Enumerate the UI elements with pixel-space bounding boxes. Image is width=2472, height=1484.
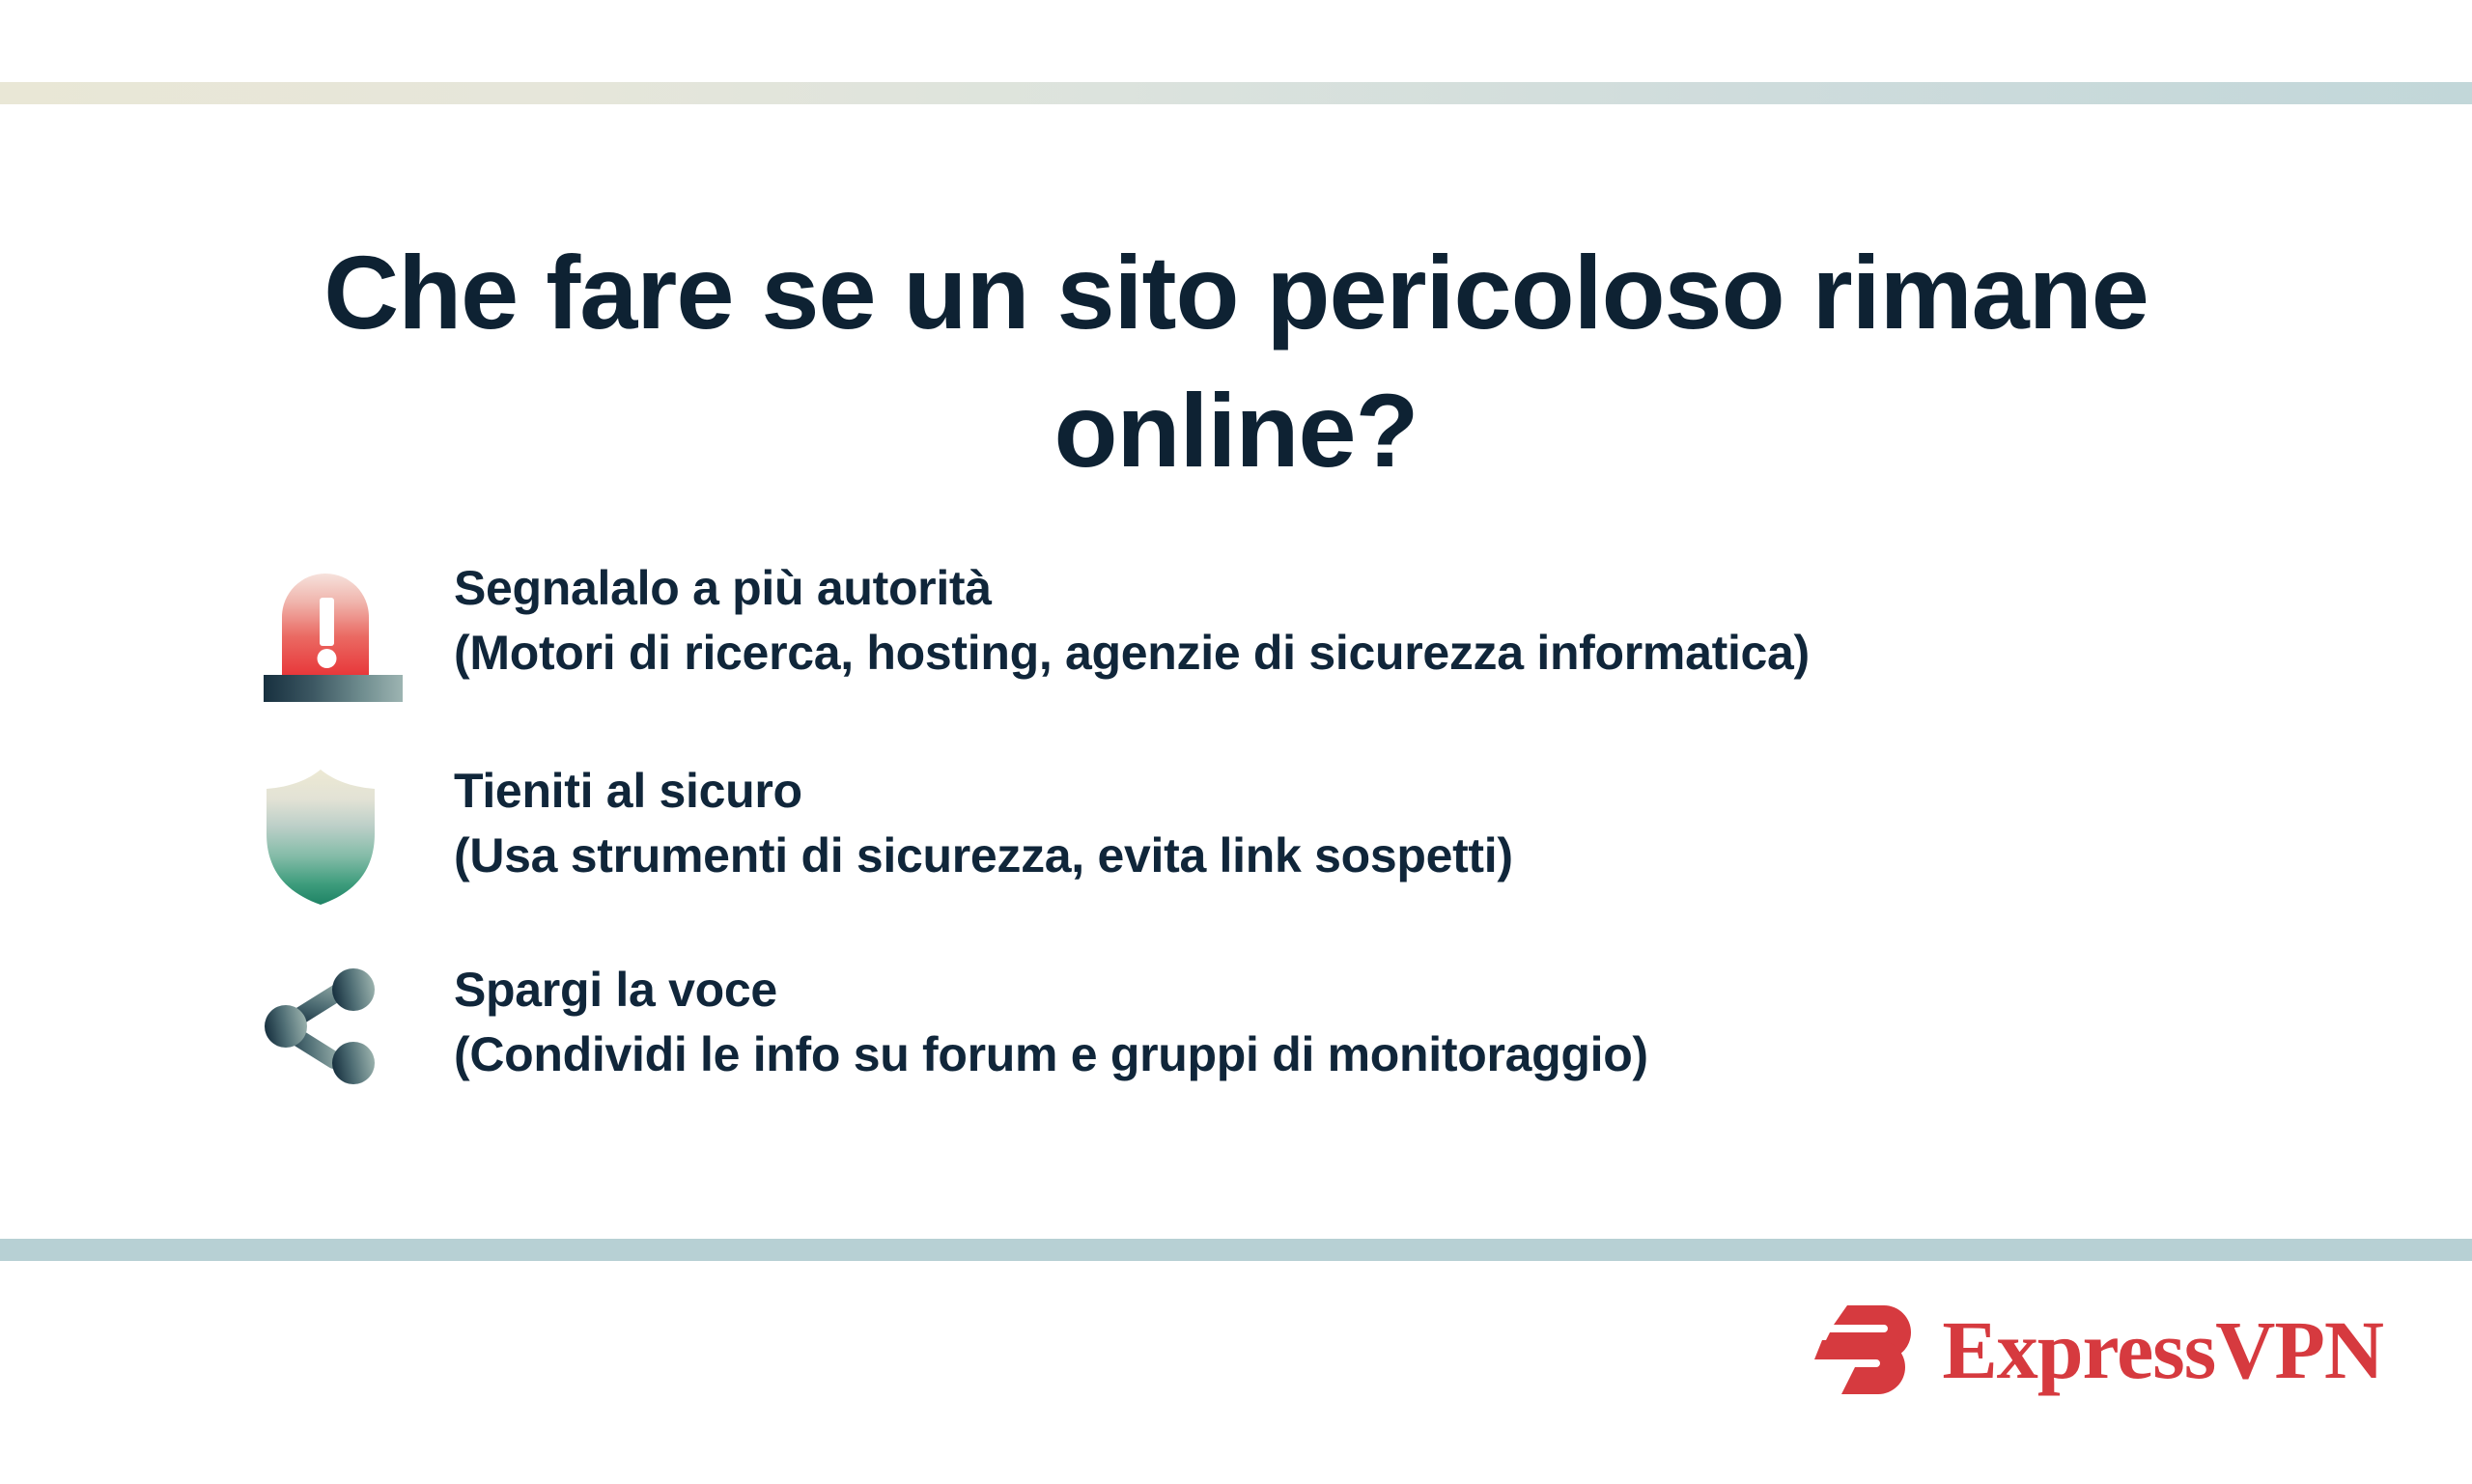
list-item-title: Tieniti al sicuro	[454, 762, 2289, 821]
list-item-subtitle: (Condividi le info su forum e gruppi di …	[454, 1025, 2289, 1084]
list-item-subtitle: (Motori di ricerca, hosting, agenzie di …	[454, 624, 2289, 683]
bottom-divider-rule	[0, 1239, 2472, 1261]
list-item-text: Segnalalo a più autorità (Motori di rice…	[454, 555, 2289, 683]
list-item: Tieniti al sicuro (Usa strumenti di sicu…	[261, 758, 2289, 907]
expressvpn-logo: ExpressVPN	[1809, 1302, 2383, 1398]
list-item: Segnalalo a più autorità (Motori di rice…	[261, 555, 2289, 708]
slide-canvas: Che fare se un sito pericoloso rimane on…	[0, 0, 2472, 1484]
list-item-title: Segnalalo a più autorità	[454, 559, 2289, 618]
expressvpn-e-mark	[1809, 1302, 1917, 1398]
list-item-text: Spargi la voce (Condividi le info su for…	[454, 957, 2289, 1084]
tips-list: Segnalalo a più autorità (Motori di rice…	[261, 555, 2289, 1102]
list-item: Spargi la voce (Condividi le info su for…	[261, 957, 2289, 1102]
list-item-text: Tieniti al sicuro (Usa strumenti di sicu…	[454, 758, 2289, 885]
siren-alert-icon	[261, 555, 454, 708]
list-item-subtitle: (Usa strumenti di sicurezza, evita link …	[454, 826, 2289, 885]
top-divider-rule	[0, 82, 2472, 104]
list-item-title: Spargi la voce	[454, 961, 2289, 1020]
page-title: Che fare se un sito pericoloso rimane on…	[270, 224, 2202, 499]
shield-icon	[261, 758, 454, 907]
expressvpn-wordmark: ExpressVPN	[1942, 1308, 2383, 1391]
share-nodes-icon	[261, 957, 454, 1088]
